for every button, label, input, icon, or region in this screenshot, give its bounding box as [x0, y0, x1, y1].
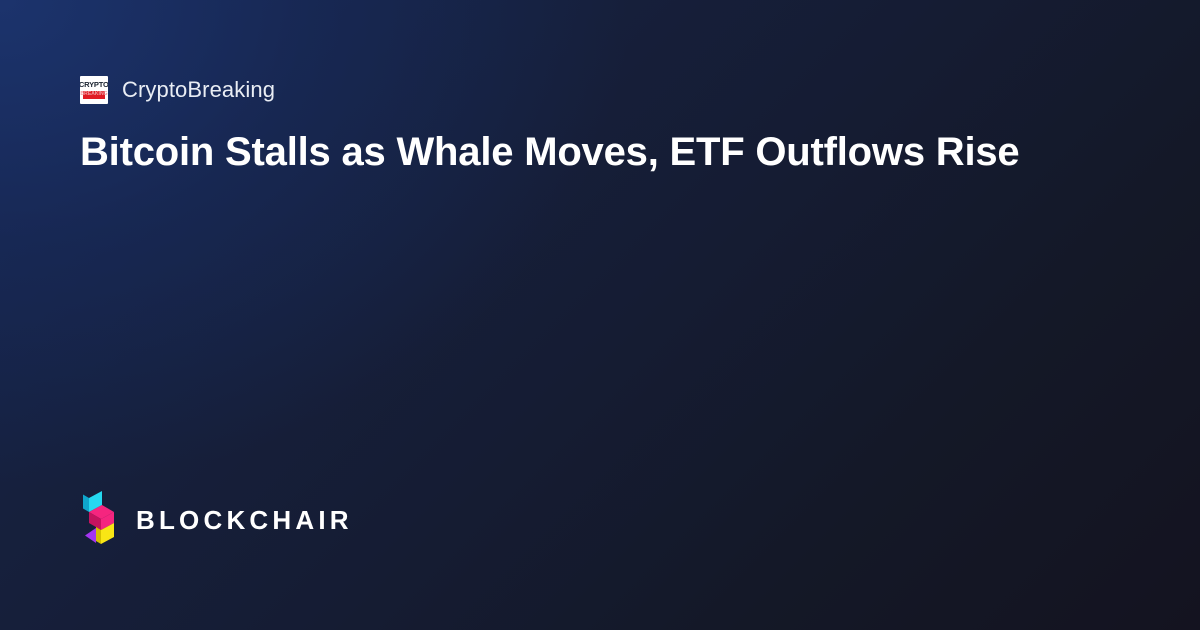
favicon-red-bar: BREAKING — [83, 91, 105, 99]
source-row: CRYPTO BREAKING CryptoBreaking — [80, 76, 275, 104]
blockchair-brand: BLOCKCHAIR — [80, 490, 353, 550]
favicon-bar-text: BREAKING — [80, 92, 107, 97]
blockchair-wordmark: BLOCKCHAIR — [136, 505, 353, 536]
blockchair-logo-icon — [80, 490, 118, 550]
social-share-card: CRYPTO BREAKING CryptoBreaking Bitcoin S… — [0, 0, 1200, 630]
page-title: Bitcoin Stalls as Whale Moves, ETF Outfl… — [80, 128, 1120, 177]
cryptobreaking-favicon: CRYPTO BREAKING — [80, 76, 108, 104]
favicon-top-text: CRYPTO — [80, 82, 108, 89]
source-name: CryptoBreaking — [122, 77, 275, 103]
